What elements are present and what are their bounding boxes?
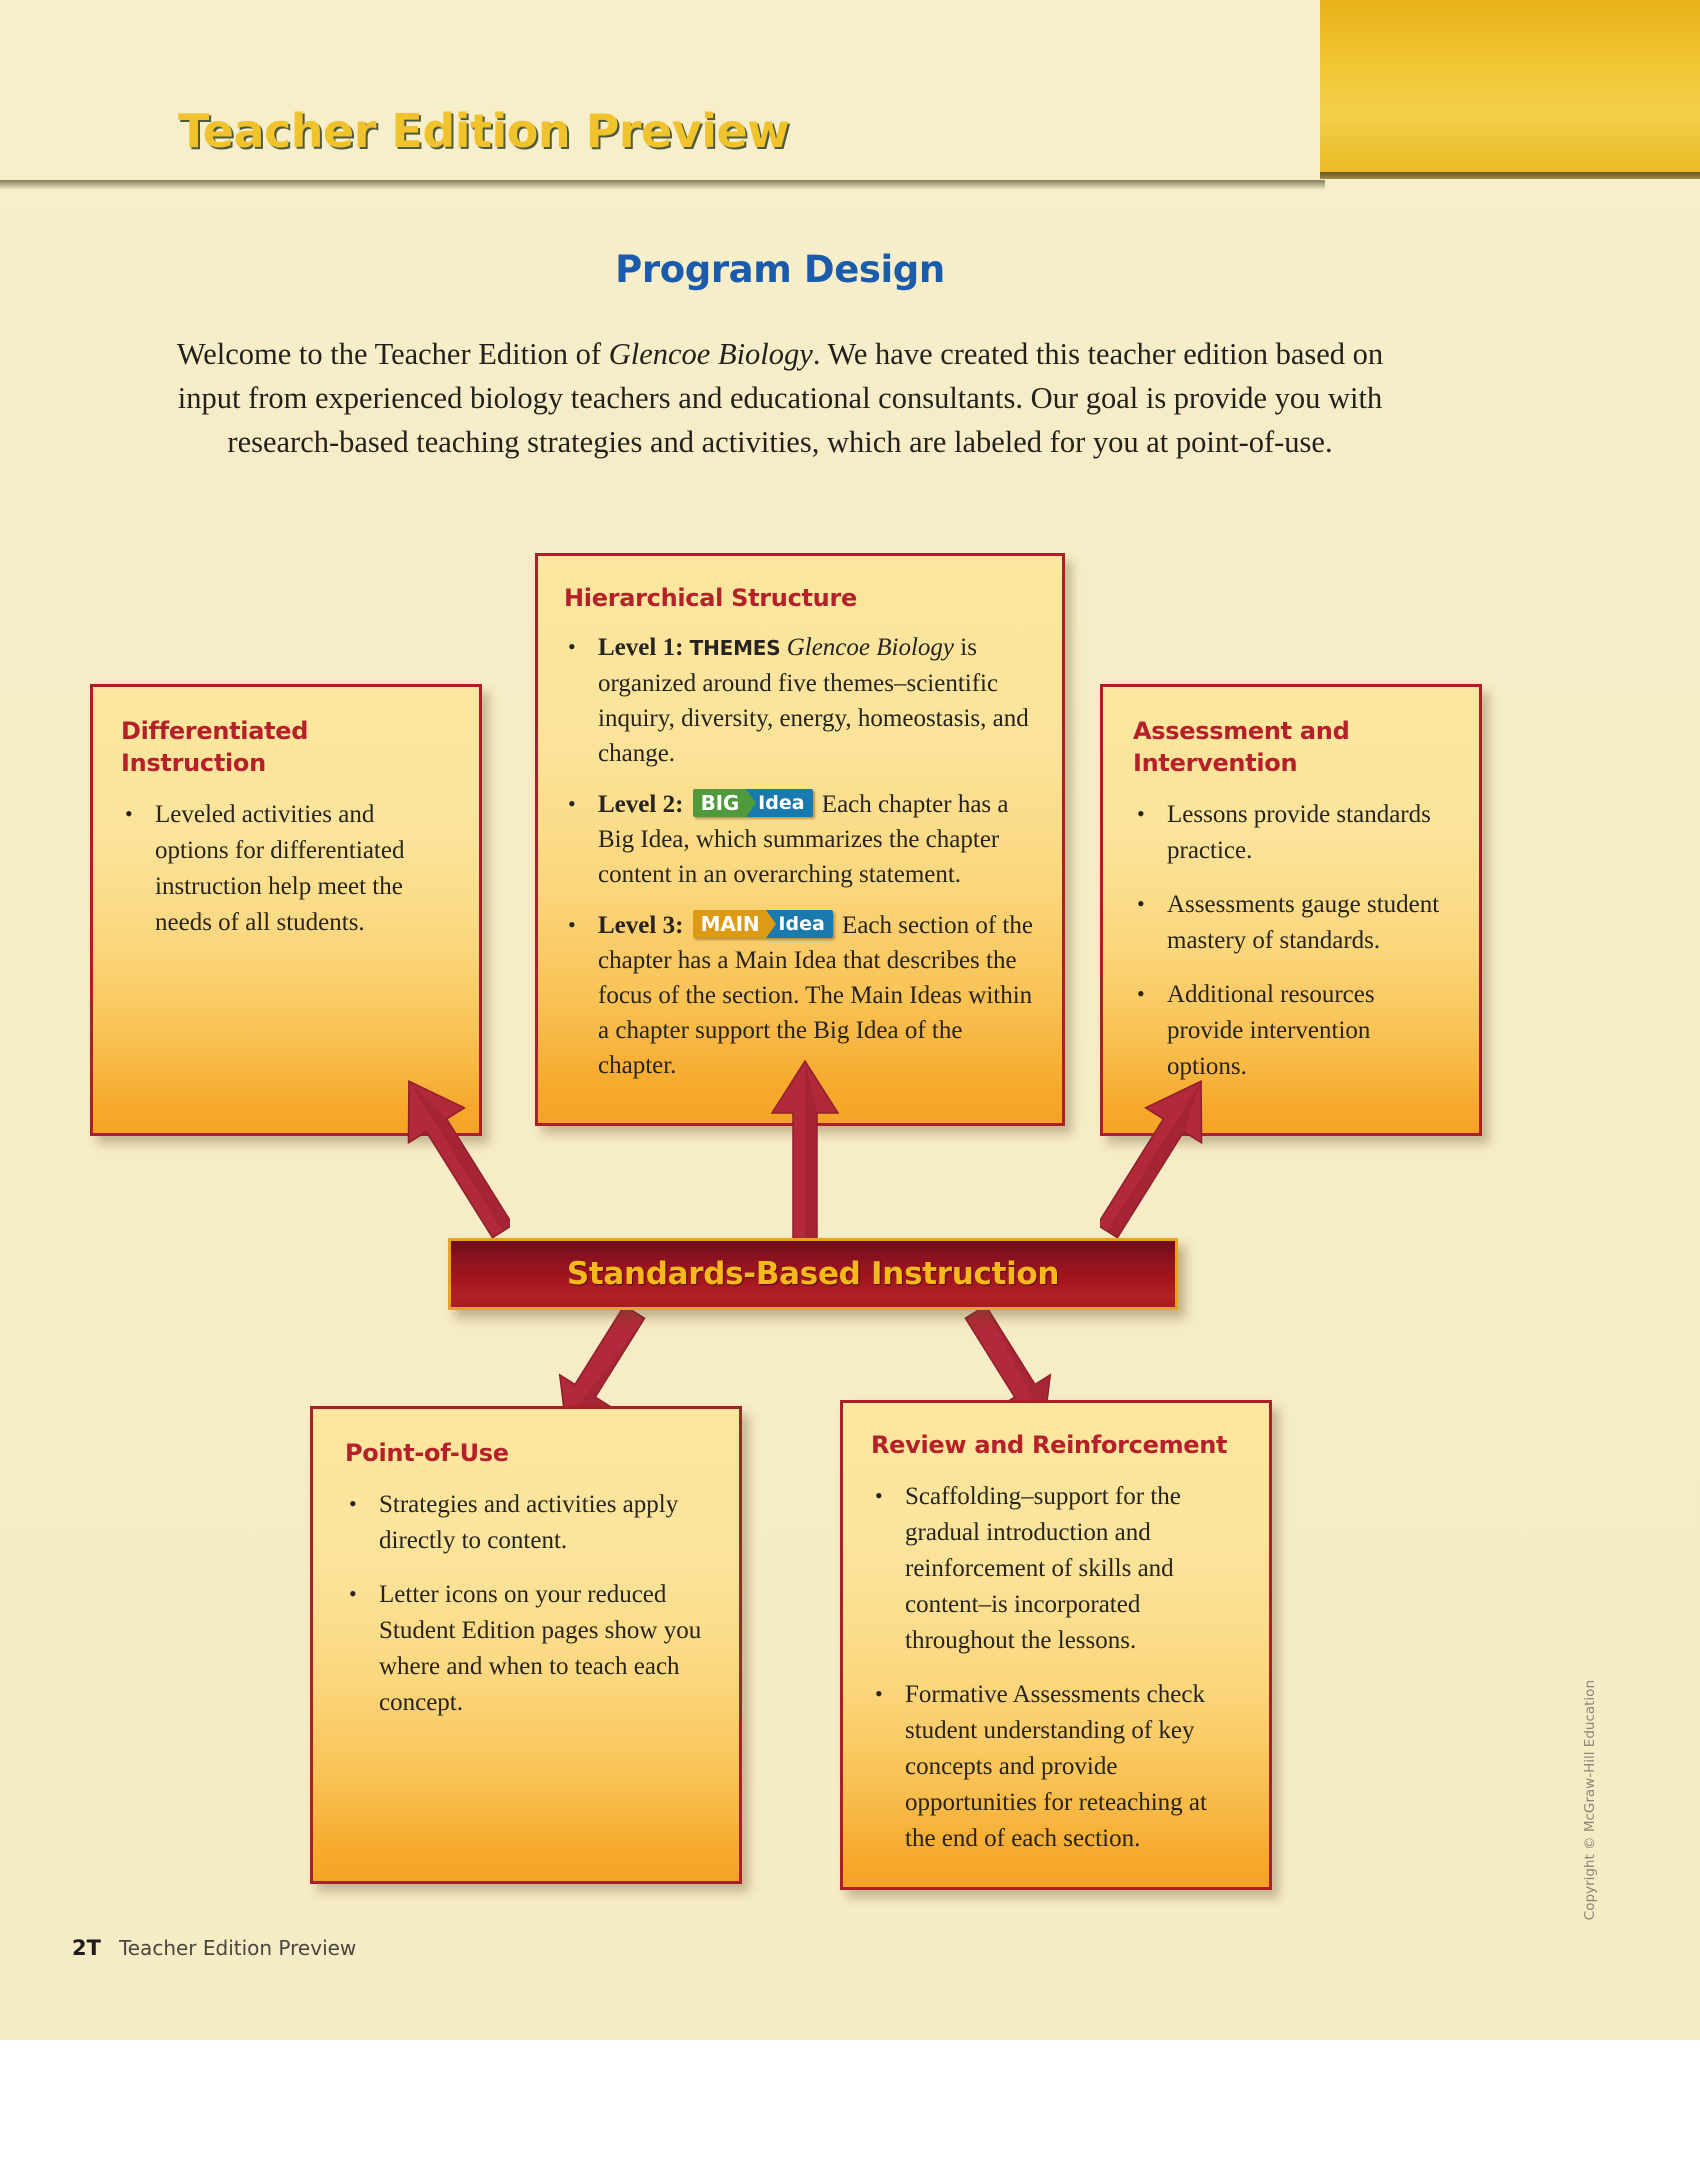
header-shadow: [0, 180, 1325, 190]
header-gold-block: [1320, 0, 1700, 178]
footer-page-number: 2T: [72, 1936, 101, 1960]
copyright-notice: Copyright © McGraw-Hill Education: [1582, 1680, 1598, 1920]
level-2-label: Level 2:: [598, 791, 683, 818]
main-idea-badge-word: Idea: [776, 910, 832, 938]
big-idea-badge-word: Idea: [756, 789, 812, 817]
page-title: Program Design: [0, 248, 1560, 291]
box-title-differentiated-instruction: Differentiated Instruction: [121, 715, 449, 779]
level-3-label: Level 3:: [598, 912, 683, 939]
box-point-of-use: Point-of-Use Strategies and activities a…: [310, 1406, 742, 1884]
bullet-list-point-of-use: Strategies and activities apply directly…: [345, 1487, 711, 1721]
standards-based-instruction-banner: Standards-Based Instruction: [448, 1238, 1178, 1310]
footer-label: Teacher Edition Preview: [119, 1936, 356, 1960]
page-footer: 2TTeacher Edition Preview: [72, 1936, 356, 1960]
box-review-and-reinforcement: Review and Reinforcement Scaffolding–sup…: [840, 1400, 1272, 1890]
bullet-list-differentiated: Leveled activities and options for diffe…: [121, 797, 449, 941]
list-item-level-1: Level 1: THEMES Glencoe Biology is organ…: [564, 630, 1036, 771]
list-item-level-2: Level 2: BIGIdea Each chapter has a Big …: [564, 787, 1036, 892]
big-idea-badge-chevron-icon: [746, 789, 756, 817]
themes-tag: THEMES: [690, 636, 781, 660]
arrow-up-center-icon: [760, 1055, 850, 1250]
list-item: Formative Assessments check student unde…: [871, 1677, 1243, 1857]
list-item: Strategies and activities apply directly…: [345, 1487, 711, 1559]
list-item: Letter icons on your reduced Student Edi…: [345, 1577, 711, 1721]
box-title-assessment-and-intervention: Assessment and Intervention: [1133, 715, 1449, 779]
header-leaf-photo: [0, 0, 1325, 186]
page-bottom-white-margin: [0, 2040, 1700, 2175]
intro-paragraph: Welcome to the Teacher Edition of Glenco…: [170, 332, 1390, 464]
box-title-hierarchical-structure: Hierarchical Structure: [564, 582, 1036, 614]
intro-text-part-1: Welcome to the Teacher Edition of: [177, 337, 609, 371]
main-idea-badge: MAINIdea: [693, 910, 833, 938]
bullet-list-review: Scaffolding–support for the gradual intr…: [871, 1479, 1243, 1857]
arrow-up-left-icon: [400, 1060, 510, 1250]
big-idea-badge-lead: BIG: [693, 789, 747, 817]
header-title: Teacher Edition Preview: [178, 104, 789, 158]
big-idea-badge: BIGIdea: [693, 789, 813, 817]
list-item: Leveled activities and options for diffe…: [121, 797, 449, 941]
textbook-page: Teacher Edition Preview Program Design W…: [0, 0, 1700, 2175]
main-idea-badge-chevron-icon: [766, 910, 776, 938]
list-item: Assessments gauge student mastery of sta…: [1133, 887, 1449, 959]
header-banner: Teacher Edition Preview: [0, 0, 1700, 186]
level-1-label: Level 1:: [598, 634, 683, 661]
box-hierarchical-structure: Hierarchical Structure Level 1: THEMES G…: [535, 553, 1065, 1126]
banner-label: Standards-Based Instruction: [567, 1256, 1059, 1292]
box-title-point-of-use: Point-of-Use: [345, 1437, 711, 1469]
level-1-book-title: Glencoe Biology: [787, 634, 954, 661]
header-gold-edge: [1320, 172, 1700, 179]
intro-book-title: Glencoe Biology: [609, 337, 813, 371]
list-item: Lessons provide standards practice.: [1133, 797, 1449, 869]
list-item: Scaffolding–support for the gradual intr…: [871, 1479, 1243, 1659]
box-title-review-and-reinforcement: Review and Reinforcement: [871, 1429, 1243, 1461]
bullet-list-assessment: Lessons provide standards practice. Asse…: [1133, 797, 1449, 1085]
main-idea-badge-lead: MAIN: [693, 910, 767, 938]
bullet-list-hierarchical: Level 1: THEMES Glencoe Biology is organ…: [564, 630, 1036, 1083]
arrow-up-right-icon: [1100, 1060, 1210, 1250]
